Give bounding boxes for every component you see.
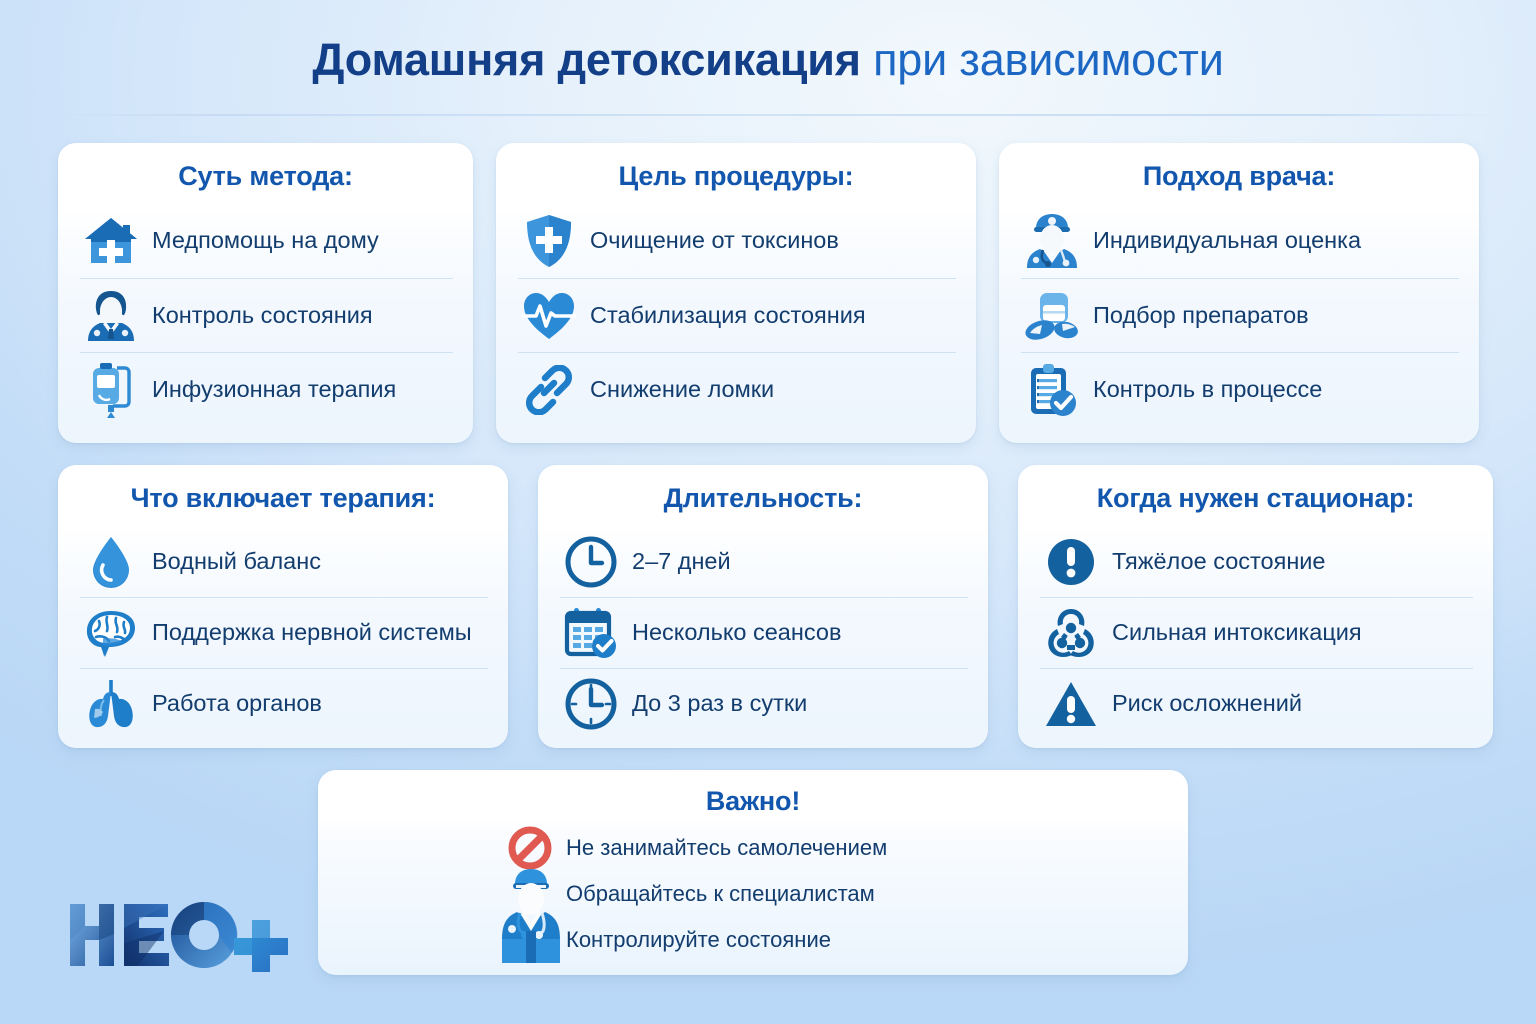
list-item: Индивидуальная оценка [1021,204,1459,278]
list-item: Работа органов [80,668,488,739]
list-item: Инфузионная терапия [80,352,453,426]
card-inpatient: Когда нужен стационар: Тяжёлое состояние [1018,465,1493,748]
list-item-label: Несколько сеансов [632,619,841,646]
card-method-body: Медпомощь на дому Контроль состояния [58,200,473,438]
card-row-bottom: Что включает терапия: Водный баланс [58,465,1493,748]
list-item: Контроль в процессе [1021,352,1459,426]
page-title-light: при зависимости [861,34,1224,85]
important-item-label: Контролируйте состояние [566,927,831,953]
list-item: До 3 раз в сутки [560,668,968,739]
page-title-strong: Домашняя детоксикация [312,34,860,85]
card-approach-body: Индивидуальная оценка Подбор препаратов [999,200,1479,438]
list-item: Медпомощь на дому [80,204,453,278]
card-method-title: Суть метода: [58,143,473,200]
list-item-label: 2–7 дней [632,548,731,575]
list-item-label: Контроль в процессе [1093,376,1322,403]
prohibition-icon [500,825,560,871]
house-cross-icon [80,210,142,272]
list-item-label: Поддержка нервной системы [152,619,472,646]
heart-pulse-icon [518,285,580,347]
card-includes-title: Что включает терапия: [58,465,508,522]
list-item-label: Сильная интоксикация [1112,619,1362,646]
list-item: Контроль состояния [80,278,453,352]
list-item-label: Индивидуальная оценка [1093,227,1361,254]
card-approach: Подход врача: [999,143,1479,443]
water-drop-icon [80,531,142,593]
list-item: 2–7 дней [560,526,968,597]
card-method: Суть метода: Медпомощь на дому [58,143,473,443]
list-item: Водный баланс [80,526,488,597]
list-item: Сильная интоксикация [1040,597,1473,668]
card-duration: Длительность: 2–7 дней [538,465,988,748]
card-includes-body: Водный баланс [58,522,508,748]
important-item-label: Обращайтесь к специалистам [566,881,875,907]
doctor-portrait-icon [80,285,142,347]
list-item: Риск осложнений [1040,668,1473,739]
card-important-title: Важно! [318,770,1188,821]
list-item-label: Контроль состояния [152,302,373,329]
iv-drip-icon [80,359,142,421]
lungs-icon [80,673,142,735]
logo [68,898,290,972]
list-item-label: Очищение от токсинов [590,227,839,254]
doctor-stethoscope-icon [1021,210,1083,272]
card-goal-title: Цель процедуры: [496,143,976,200]
list-item: Поддержка нервной системы [80,597,488,668]
icon-spacer [500,871,560,917]
list-item-label: Снижение ломки [590,376,774,403]
list-item-label: До 3 раз в сутки [632,690,807,717]
list-item: Несколько сеансов [560,597,968,668]
clipboard-check-icon [1021,359,1083,421]
list-item: Тяжёлое состояние [1040,526,1473,597]
important-item: Контролируйте состояние [500,917,831,963]
list-item-label: Инфузионная терапия [152,376,396,403]
important-item-label: Не занимайтесь самолечением [566,835,887,861]
card-inpatient-title: Когда нужен стационар: [1018,465,1493,522]
card-inpatient-body: Тяжёлое состояние [1018,522,1493,748]
warning-triangle-icon [1040,673,1102,735]
list-item-label: Риск осложнений [1112,690,1302,717]
header-divider [42,114,1494,116]
list-item-label: Подбор препаратов [1093,302,1309,329]
exclamation-circle-icon [1040,531,1102,593]
page-title: Домашняя детоксикация при зависимости [0,34,1536,86]
header: Домашняя детоксикация при зависимости [0,0,1536,118]
list-item: Подбор препаратов [1021,278,1459,352]
card-includes: Что включает терапия: Водный баланс [58,465,508,748]
list-item-label: Медпомощь на дому [152,227,379,254]
list-item-label: Тяжёлое состояние [1112,548,1326,575]
broken-chain-icon [518,359,580,421]
clock-icon [560,531,622,593]
card-goal-body: Очищение от токсинов Стабилизация состоя… [496,200,976,438]
card-important: Важно! Не занимайтесь самолечением [318,770,1188,975]
list-item-label: Стабилизация состояния [590,302,866,329]
list-item: Очищение от токсинов [518,204,956,278]
calendar-check-icon [560,602,622,664]
important-item: Обращайтесь к специалистам [500,871,875,917]
clock-icon [560,673,622,735]
list-item: Снижение ломки [518,352,956,426]
list-item-label: Водный баланс [152,548,321,575]
pills-icon [1021,285,1083,347]
card-goal: Цель процедуры: Очищение от токсинов [496,143,976,443]
important-item: Не занимайтесь самолечением [500,825,887,871]
card-approach-title: Подход врача: [999,143,1479,200]
shield-cross-icon [518,210,580,272]
biohazard-icon [1040,602,1102,664]
card-duration-title: Длительность: [538,465,988,522]
card-important-body: Не занимайтесь самолечением Обраща [318,825,1188,965]
icon-spacer [500,917,560,963]
brain-icon [80,602,142,664]
list-item: Стабилизация состояния [518,278,956,352]
card-duration-body: 2–7 дней [538,522,988,748]
card-row-top: Суть метода: Медпомощь на дому [58,143,1479,443]
list-item-label: Работа органов [152,690,322,717]
